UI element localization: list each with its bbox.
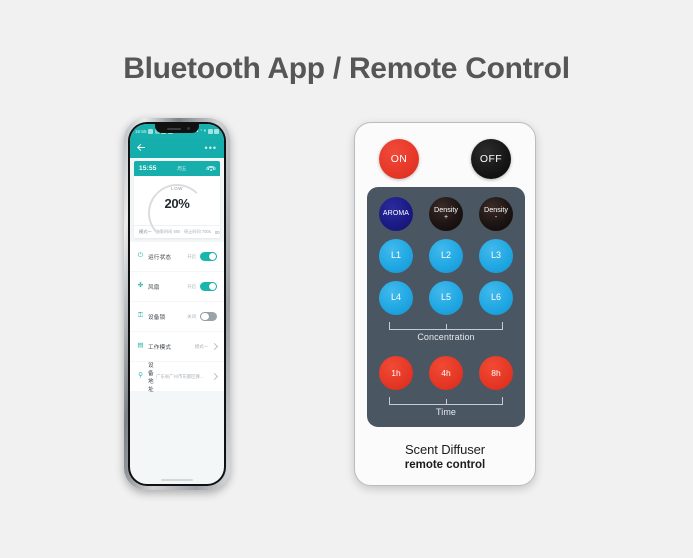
phone-notch xyxy=(155,124,199,133)
density-up-button[interactable]: Density + xyxy=(429,197,463,231)
status-bar-time: 15:55 xyxy=(135,129,147,134)
concentration-label: Concentration xyxy=(367,332,525,342)
off-button[interactable]: OFF xyxy=(471,139,511,179)
row-label: 风扇 xyxy=(148,283,187,291)
time-button-4h[interactable]: 4h xyxy=(429,356,463,390)
gauge-percent-value: 20% xyxy=(148,196,206,211)
row-value: 关闭 xyxy=(187,314,196,320)
front-camera-icon xyxy=(187,127,190,130)
remote-product-subtitle: remote control xyxy=(355,459,535,471)
settings-list: ⏻ 运行状态 开启 ✤ 风扇 开启 ⚿ 设备锁 关闭 xyxy=(130,242,224,484)
chevron-right-icon xyxy=(211,373,218,380)
phone-bezel: 15:55 ◄ * ▾ ••• xyxy=(128,122,226,486)
settings-row-running-status[interactable]: ⏻ 运行状态 开启 xyxy=(130,242,224,271)
remote-keypad-panel: AROMA Density + Density - L1 L2 L3 L4 L5… xyxy=(367,187,525,427)
bracket-tick xyxy=(446,324,447,329)
toggle-knob xyxy=(201,313,209,321)
gauge-level-label: LOW xyxy=(148,186,206,191)
chip-icon xyxy=(148,129,153,134)
bracket-tick xyxy=(446,399,447,404)
density-down-button[interactable]: Density - xyxy=(479,197,513,231)
settings-row-fan[interactable]: ✤ 风扇 开启 xyxy=(130,272,224,301)
level-button-l3[interactable]: L3 xyxy=(479,239,513,273)
aroma-button[interactable]: AROMA xyxy=(379,197,413,231)
schedule-timing: 油泵时间 60s · 停止时间 700s xyxy=(156,229,211,235)
toggle-running-status[interactable] xyxy=(200,252,217,262)
fan-icon: ✤ xyxy=(137,283,144,290)
row-label: 设备地址 xyxy=(148,361,156,393)
phone-mockup: 15:55 ◄ * ▾ ••• xyxy=(124,118,230,490)
settings-row-device-address[interactable]: ⚲ 设备地址 广东省广州市花都区狮岭镇合和街33号 xyxy=(130,362,224,391)
device-card: 15:55 周五 LOW 20% 模式一 油泵时间 60s · 停止时间 700… xyxy=(134,161,220,238)
lock-icon: ⚿ xyxy=(137,313,144,320)
level-button-l1[interactable]: L1 xyxy=(379,239,413,273)
row-label: 设备锁 xyxy=(148,313,187,321)
app-nav-bar: ••• xyxy=(130,138,224,158)
schedule-mode: 模式一 xyxy=(139,229,152,235)
page-title: Bluetooth App / Remote Control xyxy=(0,52,693,86)
time-button-8h[interactable]: 8h xyxy=(479,356,513,390)
remote-footer: Scent Diffuser remote control xyxy=(355,442,535,471)
row-value: 模式一 xyxy=(195,344,208,350)
settings-row-work-mode[interactable]: ▤ 工作模式 模式一 xyxy=(130,332,224,361)
row-value: 开启 xyxy=(187,254,196,260)
power-button-row: ON OFF xyxy=(355,139,535,179)
remote-product-name: Scent Diffuser xyxy=(355,442,535,457)
level-button-row-2: L4 L5 L6 xyxy=(367,273,525,315)
row-value: 开启 xyxy=(187,284,196,290)
density-up-label: Density xyxy=(434,206,458,214)
bluetooth-icon: * xyxy=(200,129,202,134)
chevron-right-icon xyxy=(211,343,218,350)
toggle-knob xyxy=(209,253,217,261)
toggle-fan[interactable] xyxy=(200,282,217,292)
phone-screen: 15:55 ◄ * ▾ ••• xyxy=(130,124,224,484)
on-button[interactable]: ON xyxy=(379,139,419,179)
time-label: Time xyxy=(367,407,525,417)
density-down-sign: - xyxy=(495,214,497,221)
battery-icon xyxy=(214,129,219,134)
back-arrow-icon[interactable] xyxy=(137,144,146,153)
level-button-l5[interactable]: L5 xyxy=(429,281,463,315)
time-button-1h[interactable]: 1h xyxy=(379,356,413,390)
level-button-l2[interactable]: L2 xyxy=(429,239,463,273)
concentration-bracket xyxy=(389,322,503,330)
time-bracket xyxy=(389,397,503,405)
level-button-row-1: L1 L2 L3 xyxy=(367,231,525,273)
card-day: 周五 xyxy=(177,166,186,172)
row-label: 运行状态 xyxy=(148,253,187,261)
sim-icon xyxy=(208,129,213,134)
wifi-icon: ▾ xyxy=(204,129,206,134)
level-button-l6[interactable]: L6 xyxy=(479,281,513,315)
schedule-summary: 模式一 油泵时间 60s · 停止时间 700s 00:00-22:00 xyxy=(134,225,220,238)
aroma-button-label: AROMA xyxy=(383,210,409,217)
toggle-knob xyxy=(209,283,217,291)
power-icon: ⏻ xyxy=(137,253,144,260)
gauge-section: LOW 20% xyxy=(134,176,220,225)
earpiece-speaker-icon xyxy=(167,128,181,130)
schedule-range: 00:00-22:00 xyxy=(215,230,220,235)
row-value: 广东省广州市花都区狮岭镇合和街33号 xyxy=(156,374,208,380)
concentration-gauge: LOW 20% xyxy=(148,184,206,218)
card-time: 15:55 xyxy=(139,165,157,172)
density-up-sign: + xyxy=(444,214,448,221)
more-options-button[interactable]: ••• xyxy=(205,145,217,151)
mode-icon: ▤ xyxy=(137,343,144,350)
home-indicator xyxy=(161,479,193,481)
time-section: 1h 4h 8h Time xyxy=(367,356,525,417)
settings-row-device-lock[interactable]: ⚿ 设备锁 关闭 xyxy=(130,302,224,331)
location-icon: ⚲ xyxy=(137,373,144,380)
row-label: 工作模式 xyxy=(148,343,195,351)
density-down-label: Density xyxy=(484,206,508,214)
wifi-icon xyxy=(207,166,215,172)
level-button-l4[interactable]: L4 xyxy=(379,281,413,315)
toggle-device-lock[interactable] xyxy=(200,312,217,322)
device-card-header: 15:55 周五 xyxy=(134,161,220,176)
time-button-row: 1h 4h 8h xyxy=(367,356,525,390)
function-button-row: AROMA Density + Density - xyxy=(367,187,525,231)
remote-control-mockup: ON OFF AROMA Density + Density - L1 L2 L… xyxy=(354,122,536,486)
